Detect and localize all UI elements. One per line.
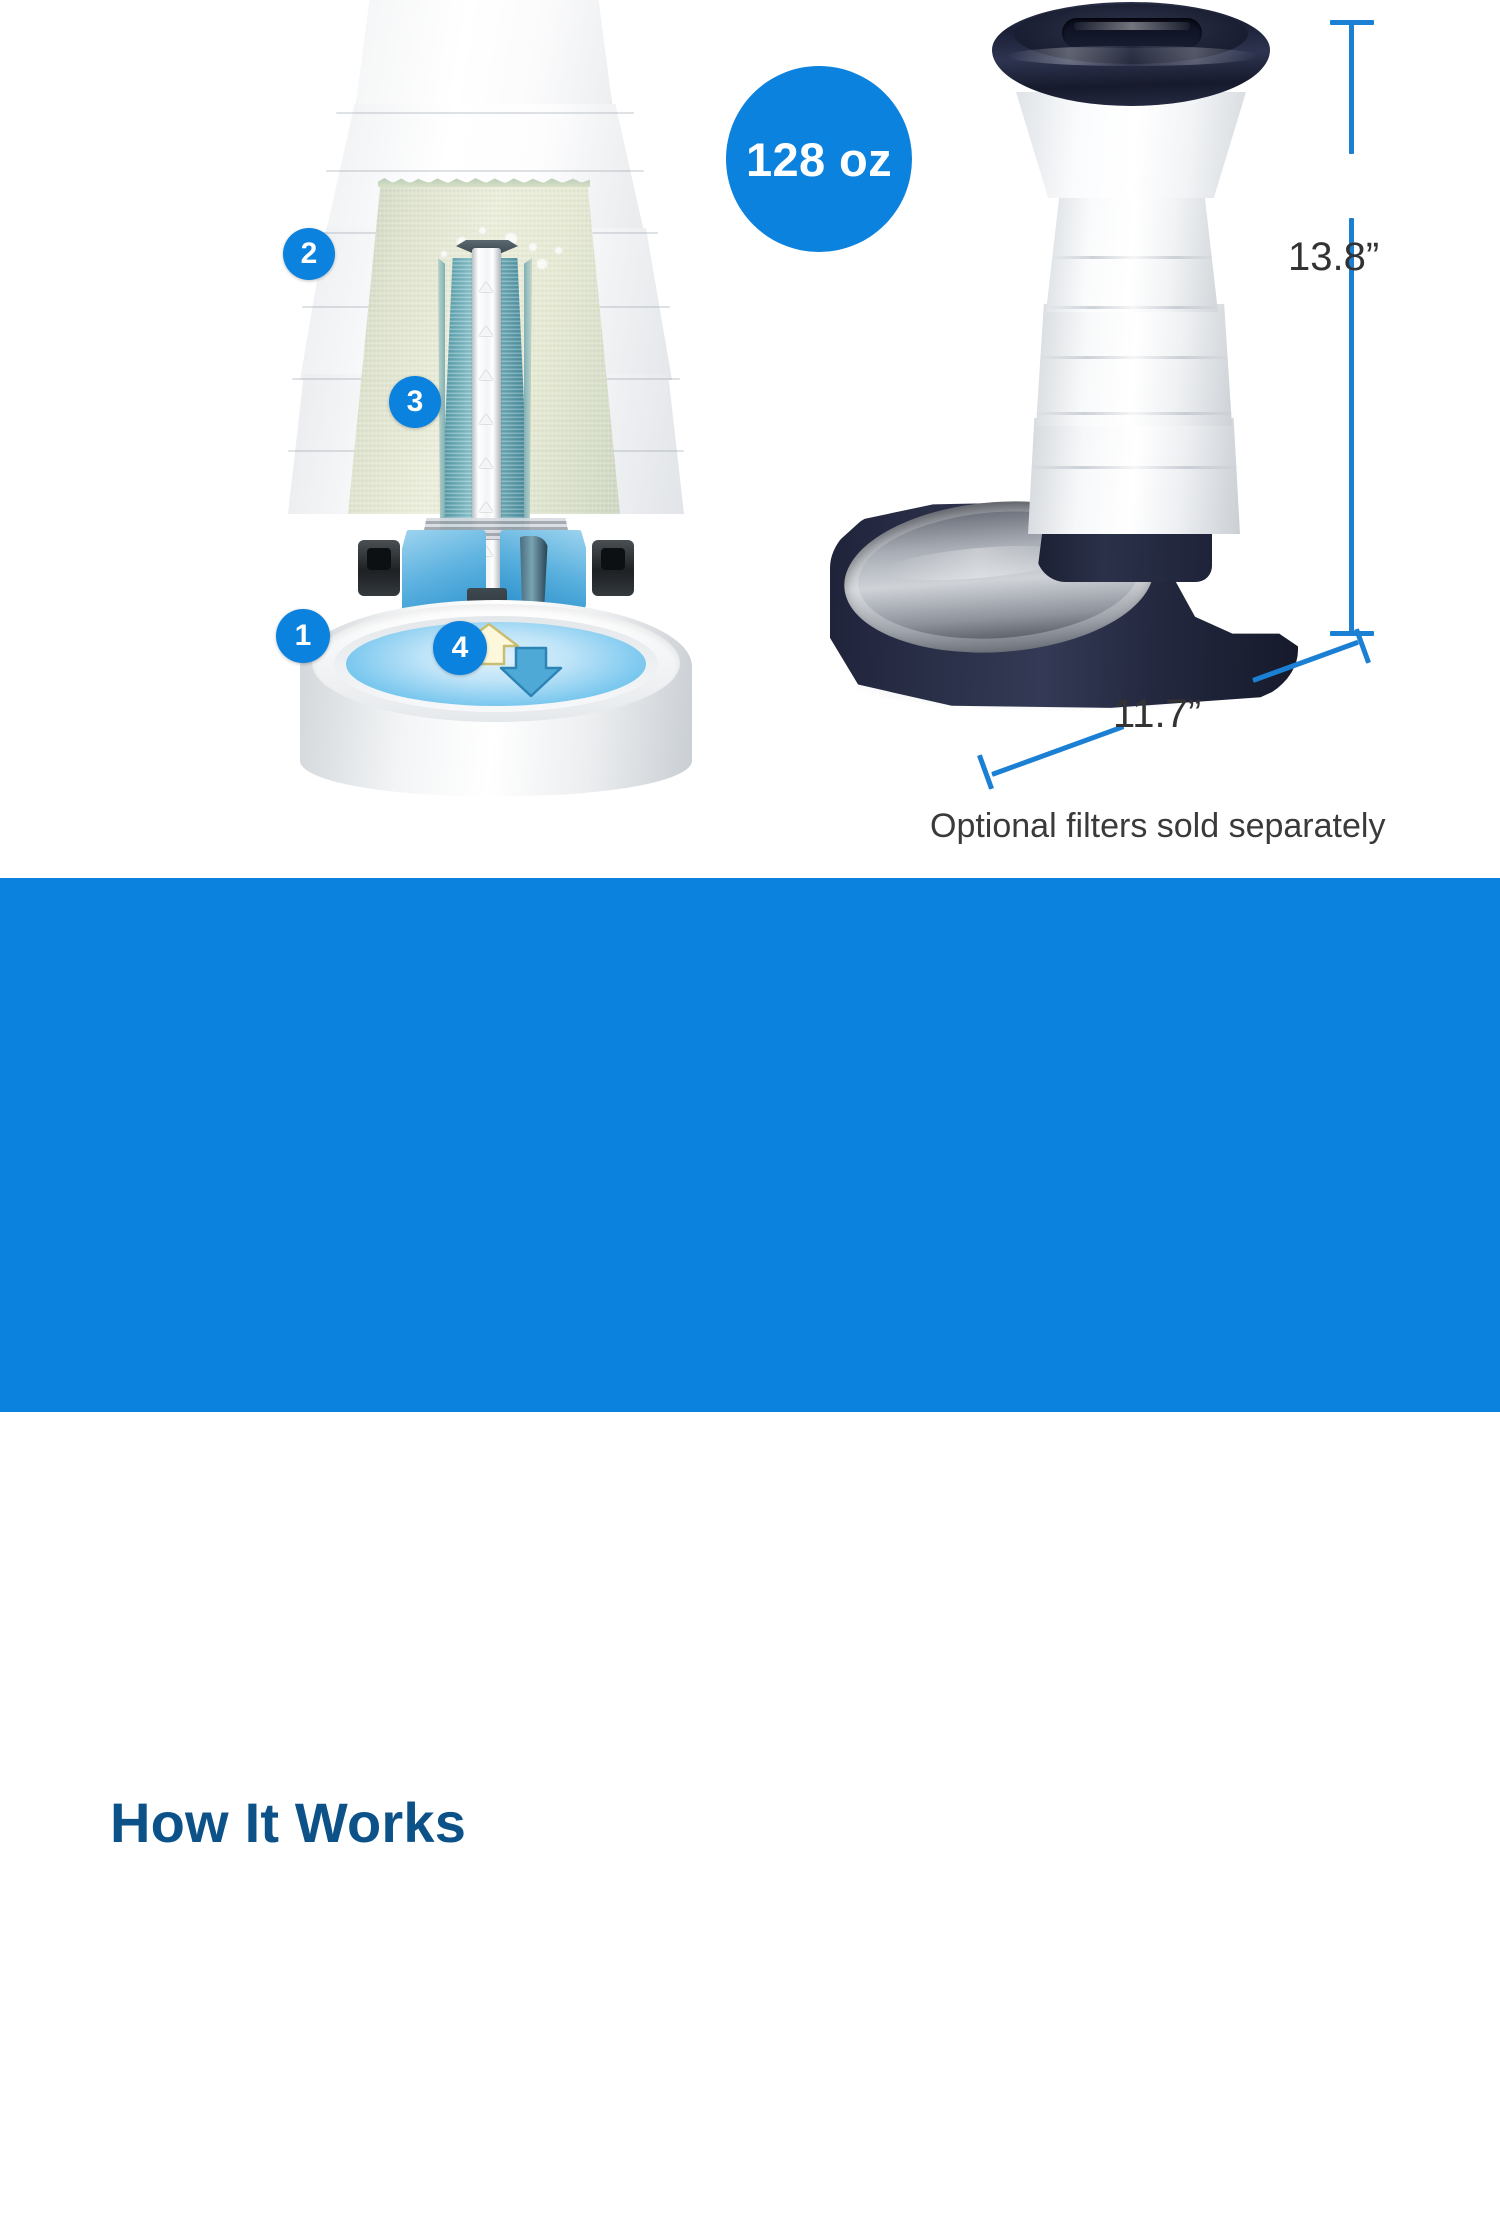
step-number: 2.	[82, 1962, 148, 2022]
step-number: 3.	[82, 2028, 148, 2088]
clip-slot	[601, 548, 625, 570]
top-image-area: 1 2 3 4 128 oz	[0, 0, 1500, 878]
air-bubble	[528, 242, 538, 252]
callout-badge-3: 3	[389, 376, 441, 428]
how-it-works-title: How It Works	[110, 1790, 466, 1855]
air-bubble	[440, 250, 448, 258]
step-item: 3. Water enters the filter and is purifi…	[82, 2028, 1442, 2148]
vent-flow-arrow-icon	[479, 502, 493, 512]
bottle-rib	[336, 112, 634, 114]
vent-flow-arrow-icon	[479, 326, 493, 336]
bottle-neck	[1016, 92, 1246, 198]
bottle-section-mid	[1036, 304, 1232, 426]
step-text: Clean, filtered water flows into the bow…	[148, 2154, 842, 2214]
height-dim-bottom-cap	[1330, 631, 1374, 636]
step-number: 1.	[82, 1896, 148, 1956]
height-dimension-label: 13.8”	[1288, 235, 1379, 280]
vent-flow-arrow-icon	[479, 370, 493, 380]
height-dim-line-upper	[1349, 20, 1354, 154]
callout-badge-2-label: 2	[301, 237, 318, 271]
air-bubble	[554, 246, 563, 255]
product-rib	[1030, 466, 1240, 469]
cutaway-diagram: 1 2 3 4	[140, 0, 600, 810]
retainer-clip-left	[358, 540, 400, 596]
callout-badge-2: 2	[283, 228, 335, 280]
vent-flow-arrow-icon	[479, 282, 493, 292]
air-bubble	[478, 226, 487, 235]
retainer-clip-right	[592, 540, 634, 596]
how-it-works-panel: How It Works 1. Air flows into vent tube…	[0, 878, 1500, 1412]
air-bubble	[536, 258, 548, 270]
callout-badge-3-label: 3	[407, 385, 424, 419]
vent-flow-arrow-icon	[479, 414, 493, 424]
how-it-works-steps: 1. Air flows into vent tube 2. Air pushe…	[82, 1896, 1442, 2220]
step-item: 2. Air pushes the valve up	[82, 1962, 1442, 2022]
callout-badge-1-label: 1	[295, 619, 312, 653]
width-dimension-label: 11.7”	[1113, 692, 1201, 737]
bottle-section-upper	[1046, 192, 1218, 312]
product-photo	[800, 0, 1320, 810]
step-text: Air pushes the valve up	[148, 1962, 564, 2022]
callout-badge-1: 1	[276, 609, 330, 663]
lid-slot-highlight	[1074, 22, 1190, 30]
product-rib	[1040, 356, 1230, 359]
step-item: 4. Clean, filtered water flows into the …	[82, 2154, 1442, 2214]
step-item: 1. Air flows into vent tube	[82, 1896, 1442, 1956]
height-dim-line-lower	[1349, 218, 1354, 636]
step-text: Water enters the filter and is purified …	[148, 2028, 1328, 2148]
step-text: Air flows into vent tube	[148, 1896, 550, 1956]
clip-slot	[367, 548, 391, 570]
callout-badge-4-label: 4	[452, 631, 469, 665]
bottle-section-lower	[1028, 418, 1240, 534]
filters-caption: Optional filters sold separately	[930, 807, 1385, 846]
lid-gloss-highlight	[1006, 46, 1258, 66]
vent-flow-arrow-icon	[479, 458, 493, 468]
bottle-rib	[326, 170, 644, 172]
product-infographic: 1 2 3 4 128 oz	[0, 0, 1500, 1412]
bottle-shell-top	[355, 0, 613, 110]
product-rib	[1052, 256, 1216, 259]
water-outflow-arrow-icon	[498, 646, 564, 698]
product-rib	[1048, 306, 1220, 309]
product-rib	[1034, 412, 1236, 415]
callout-badge-4: 4	[433, 621, 487, 675]
step-number: 4.	[82, 2154, 148, 2214]
